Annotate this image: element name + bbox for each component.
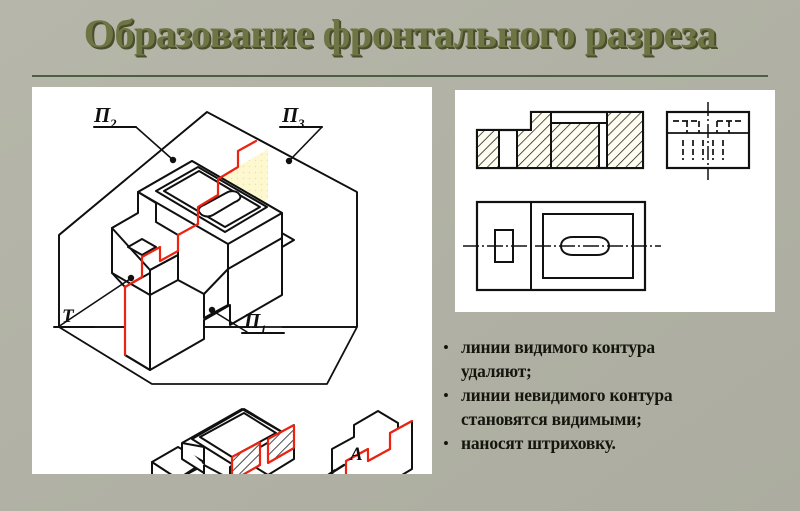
list-item: • наносят штриховку.	[443, 432, 793, 456]
bullet-line: линии видимого контура	[461, 337, 655, 357]
bullet-marker: •	[443, 432, 461, 455]
label-pi1-subscript: 1	[260, 322, 267, 337]
part-lower-half	[320, 411, 412, 474]
label-arrow-a: A	[349, 444, 363, 465]
left-illustration-panel: П 2 П 3 П 1 Т	[32, 87, 432, 474]
bullet-marker: •	[443, 336, 461, 359]
orthographic-views-panel	[455, 90, 775, 312]
orthographic-drawing	[455, 90, 775, 312]
label-pi3-subscript: 3	[297, 116, 305, 131]
isometric-drawing: П 2 П 3 П 1 Т	[32, 87, 432, 474]
slide-background: Образование фронтального разреза	[0, 0, 800, 511]
label-pi3: П	[281, 103, 299, 127]
list-item: • линии невидимого контура становятся ви…	[443, 384, 793, 431]
bullet-line: наносят штриховку.	[461, 433, 616, 453]
bullet-text-3: наносят штриховку.	[461, 432, 616, 456]
bullet-text-2: линии невидимого контура становятся види…	[461, 384, 672, 431]
bullet-marker: •	[443, 384, 461, 407]
label-pi2: П	[93, 103, 111, 127]
label-pi1: П	[243, 309, 261, 333]
bullet-line: линии невидимого контура	[461, 385, 672, 405]
bullet-line: становятся видимыми;	[461, 409, 642, 429]
page-title: Образование фронтального разреза	[0, 6, 800, 62]
title-divider	[32, 75, 768, 77]
bullet-line: удаляют;	[461, 361, 532, 381]
list-item: • линии видимого контура удаляют;	[443, 336, 793, 383]
label-t-plane: Т	[62, 306, 75, 327]
bullet-list: • линии видимого контура удаляют; • лини…	[443, 336, 793, 457]
label-pi2-subscript: 2	[109, 116, 117, 131]
bullet-text-1: линии видимого контура удаляют;	[461, 336, 655, 383]
